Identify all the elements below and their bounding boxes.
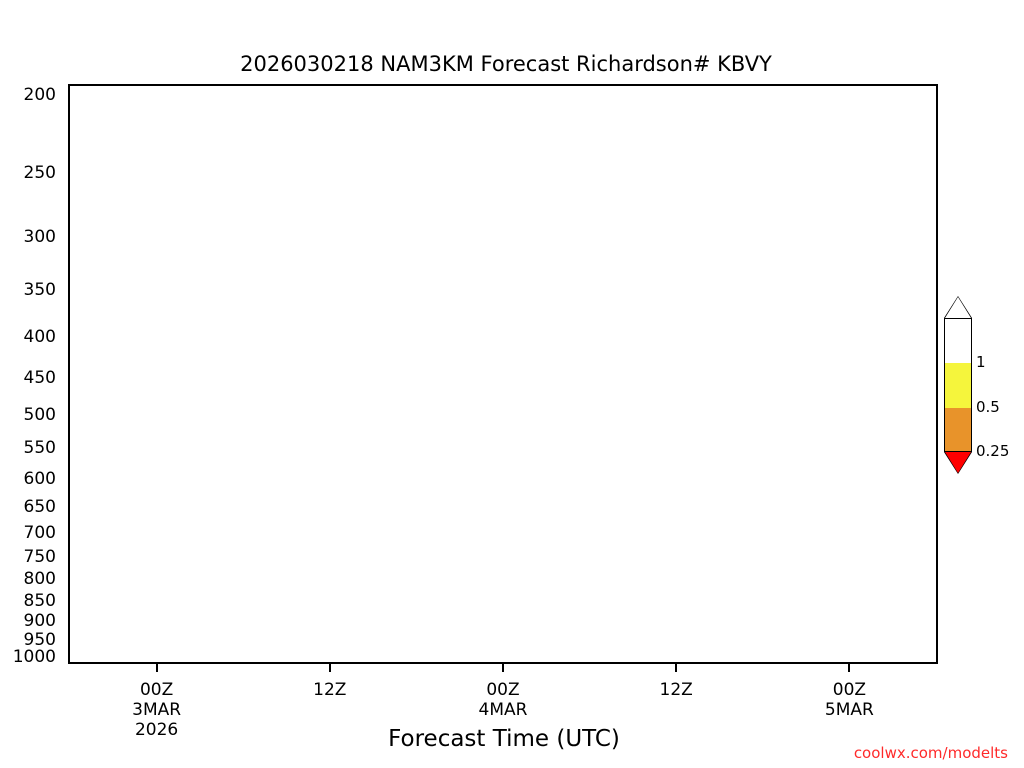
y-tick-label: 400 bbox=[24, 327, 56, 347]
y-tick-label: 200 bbox=[24, 85, 56, 105]
x-tick bbox=[502, 664, 504, 672]
plot-area bbox=[68, 84, 938, 664]
colorbar-label-05: 0.5 bbox=[976, 398, 1000, 416]
y-tick-label: 550 bbox=[24, 438, 56, 458]
y-tick-label: 800 bbox=[24, 569, 56, 589]
y-tick-label: 1000 bbox=[13, 647, 56, 667]
y-tick-label: 450 bbox=[24, 368, 56, 388]
colorbar-label-1: 1 bbox=[976, 353, 986, 371]
chart-page: 2026030218 NAM3KM Forecast Richardson# K… bbox=[0, 0, 1024, 768]
y-tick-label: 500 bbox=[24, 405, 56, 425]
chart-title: 2026030218 NAM3KM Forecast Richardson# K… bbox=[0, 52, 1024, 76]
x-tick-sublabel: 3MAR bbox=[132, 700, 181, 720]
x-tick-label: 00Z bbox=[486, 680, 519, 700]
x-tick-label: 12Z bbox=[313, 680, 346, 700]
x-tick-label: 00Z bbox=[833, 680, 866, 700]
credit-text: coolwx.com/modelts bbox=[854, 744, 1008, 762]
y-axis-labels: 2002503003504004505005506006507007508008… bbox=[0, 84, 64, 664]
x-tick bbox=[329, 664, 331, 672]
colorbar-label-025: 0.25 bbox=[976, 442, 1009, 460]
x-tick-sublabel: 5MAR bbox=[825, 700, 874, 720]
y-tick-label: 350 bbox=[24, 280, 56, 300]
colorbar-bottom-arrow bbox=[945, 452, 971, 473]
colorbar-segment-orange bbox=[945, 408, 971, 451]
heatmap-canvas bbox=[70, 86, 936, 662]
y-tick-label: 750 bbox=[24, 547, 56, 567]
colorbar-top-arrow bbox=[945, 297, 971, 318]
x-tick bbox=[156, 664, 158, 672]
colorbar-segment-yellow bbox=[945, 363, 971, 408]
colorbar: 1 0.5 0.25 bbox=[944, 296, 972, 474]
y-tick-label: 900 bbox=[24, 611, 56, 631]
y-tick-label: 700 bbox=[24, 523, 56, 543]
y-tick-label: 600 bbox=[24, 469, 56, 489]
x-tick bbox=[675, 664, 677, 672]
y-tick-label: 650 bbox=[24, 497, 56, 517]
y-tick-label: 850 bbox=[24, 591, 56, 611]
colorbar-segment-white bbox=[945, 319, 971, 363]
y-tick-label: 250 bbox=[24, 163, 56, 183]
y-tick-label: 300 bbox=[24, 227, 56, 247]
colorbar-box bbox=[944, 318, 972, 452]
x-tick bbox=[848, 664, 850, 672]
x-tick-sublabel: 4MAR bbox=[479, 700, 528, 720]
x-tick-label: 12Z bbox=[660, 680, 693, 700]
x-tick-label: 00Z bbox=[140, 680, 173, 700]
